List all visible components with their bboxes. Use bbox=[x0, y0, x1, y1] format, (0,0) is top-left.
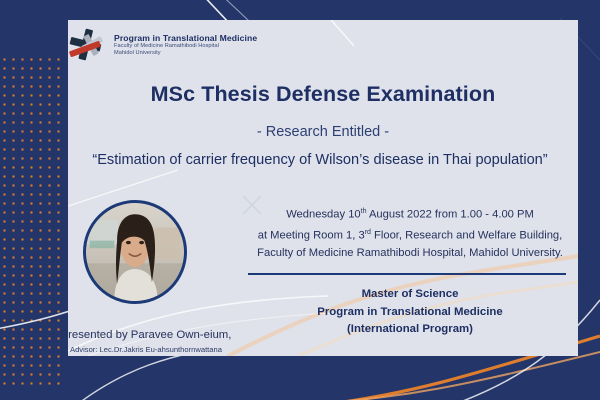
portrait-photo bbox=[86, 203, 184, 301]
event-date-prefix: Wednesday 10 bbox=[286, 209, 360, 221]
event-venue-line-1: at Meeting Room 1, 3rd Floor, Research a… bbox=[240, 224, 580, 245]
organization-logo: Program in Translational Medicine Facult… bbox=[68, 28, 544, 61]
logo-program-title: Program in Translational Medicine bbox=[114, 33, 257, 43]
event-venue-line-2: Faculty of Medicine Ramathibodi Hospital… bbox=[240, 244, 580, 262]
venue-suffix: Floor, Research and Welfare Building, bbox=[371, 229, 562, 241]
logo-university-line: Mahidol University bbox=[114, 50, 257, 57]
presenter-details: Presented by Paravee Own-eium, Advisor: … bbox=[36, 328, 256, 356]
degree-program: Program in Translational Medicine bbox=[240, 304, 580, 322]
degree-details: Master of Science Program in Translation… bbox=[240, 286, 580, 339]
event-date-suffix: August 2022 from 1.00 - 4.00 PM bbox=[366, 209, 533, 221]
venue-prefix: at Meeting Room 1, 3 bbox=[258, 229, 365, 241]
logo-text-block: Program in Translational Medicine Facult… bbox=[114, 33, 257, 56]
event-date-line: Wednesday 10th August 2022 from 1.00 - 4… bbox=[240, 203, 580, 224]
degree-program-type: (International Program) bbox=[240, 321, 580, 339]
degree-name: Master of Science bbox=[240, 286, 580, 304]
research-title: “Estimation of carrier frequency of Wils… bbox=[40, 152, 600, 168]
research-entitled-label: - Research Entitled - bbox=[68, 124, 578, 140]
presenter-advisor: Advisor: Lec.Dr.Jakris Eu-ahsunthornwatt… bbox=[36, 343, 256, 356]
page-title: MSc Thesis Defense Examination bbox=[68, 82, 578, 107]
logo-faculty-line: Faculty of Medicine Ramathibodi Hospital bbox=[114, 43, 257, 50]
presenter-avatar bbox=[83, 200, 187, 304]
event-details: Wednesday 10th August 2022 from 1.00 - 4… bbox=[240, 203, 580, 262]
overlapping-crosses-logo-icon bbox=[68, 28, 106, 61]
presenter-name: Presented by Paravee Own-eium, bbox=[36, 328, 256, 343]
section-divider bbox=[248, 273, 566, 275]
poster-canvas: Program in Translational Medicine Facult… bbox=[0, 0, 600, 400]
